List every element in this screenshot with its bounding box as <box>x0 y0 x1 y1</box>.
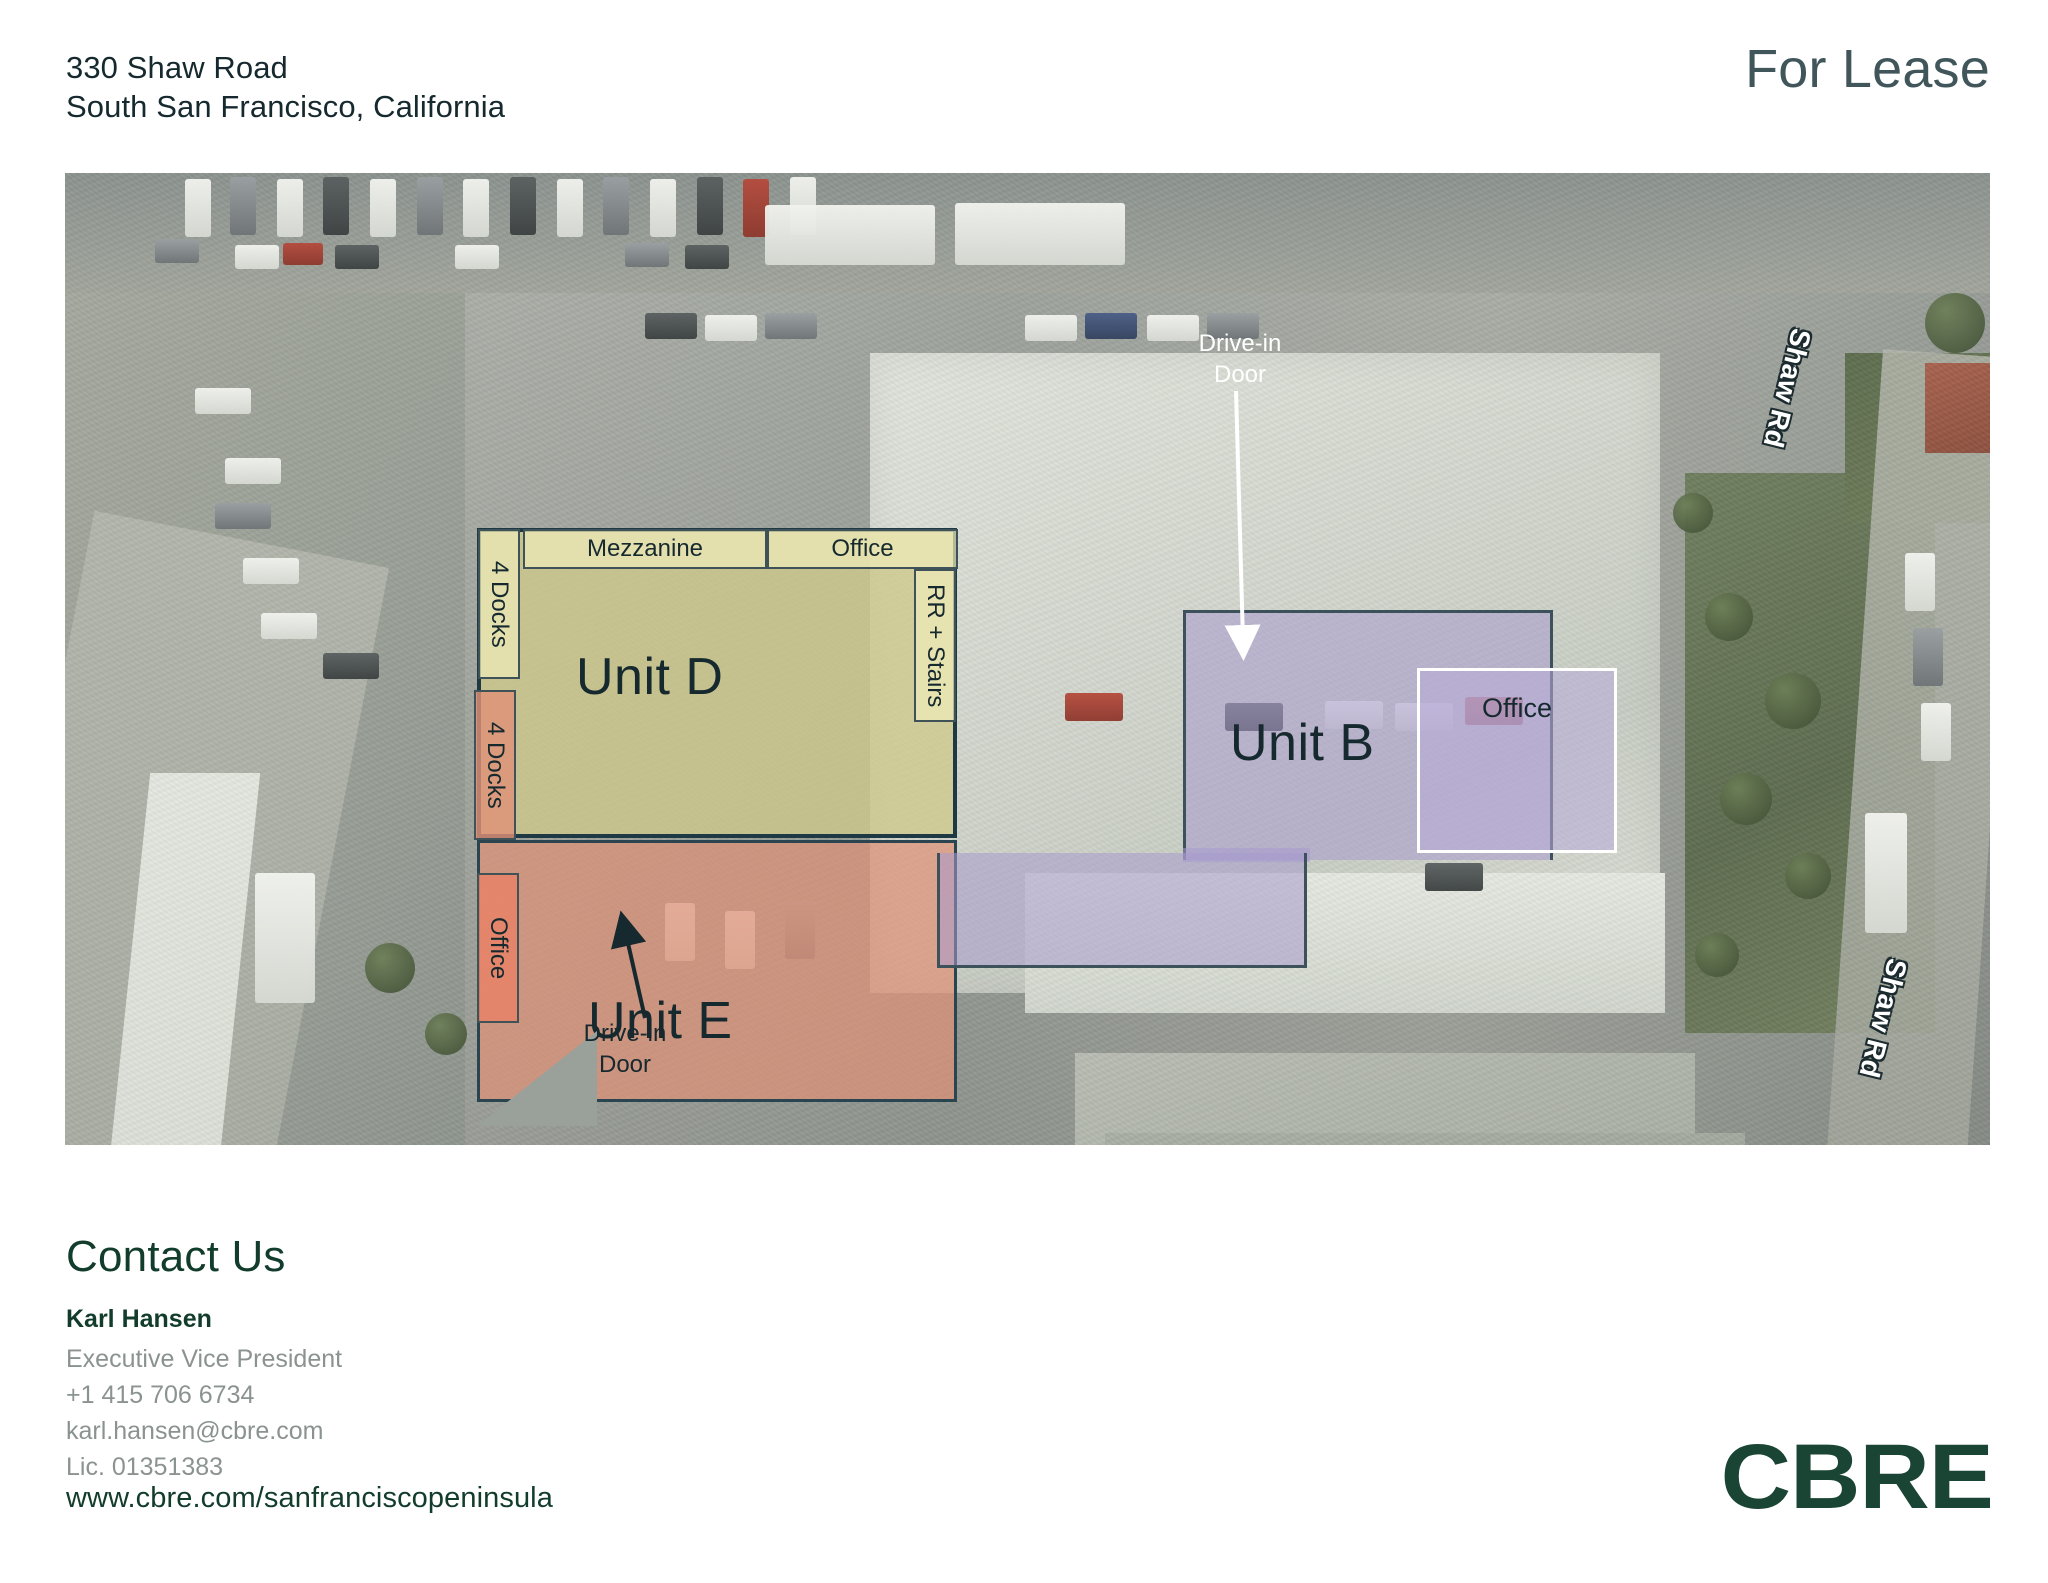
car <box>283 243 323 265</box>
car <box>1921 703 1951 761</box>
car <box>650 179 676 237</box>
callout-line-1: Drive-in <box>1150 328 1330 359</box>
car <box>1025 315 1077 341</box>
car <box>195 388 251 414</box>
car <box>603 177 629 235</box>
unit-b-polygon-lower[interactable] <box>937 853 1307 968</box>
callout-arrow-bottom <box>555 918 695 1028</box>
unit-d-docks-label: 4 Docks <box>478 529 520 679</box>
unit-b-office-box[interactable]: Office <box>1417 668 1617 853</box>
tree <box>1785 853 1831 899</box>
car <box>277 179 303 237</box>
car <box>1065 693 1123 721</box>
tree <box>1673 493 1713 533</box>
car <box>645 313 697 339</box>
car <box>1085 313 1137 339</box>
address-line-1: 330 Shaw Road <box>66 48 505 87</box>
car <box>370 179 396 237</box>
car <box>230 177 256 235</box>
car <box>510 177 536 235</box>
tree <box>425 1013 467 1055</box>
car <box>261 613 317 639</box>
car <box>185 179 211 237</box>
contact-license: Lic. 01351383 <box>66 1449 342 1485</box>
unit-b-office-label: Office <box>1482 693 1552 724</box>
property-address: 330 Shaw Road South San Francisco, Calif… <box>66 48 505 126</box>
tree <box>1705 593 1753 641</box>
car <box>765 313 817 339</box>
car <box>225 458 281 484</box>
page-header: 330 Shaw Road South San Francisco, Calif… <box>0 0 2048 173</box>
address-line-2: South San Francisco, California <box>66 87 505 126</box>
callout-line-2: Door <box>535 1049 715 1080</box>
car <box>335 245 379 269</box>
aerial-photo <box>65 173 1990 1145</box>
tree <box>1765 673 1821 729</box>
aerial-site-plan: 4 Docks Mezzanine Office RR + Stairs Uni… <box>65 173 1990 1145</box>
car <box>235 245 279 269</box>
truck-trailer <box>765 205 935 265</box>
page-footer: Contact Us Karl Hansen Executive Vice Pr… <box>0 1145 2048 1583</box>
car <box>417 177 443 235</box>
car <box>243 558 299 584</box>
car <box>155 239 199 263</box>
tree <box>1695 933 1739 977</box>
contact-name: Karl Hansen <box>66 1305 212 1334</box>
unit-e-office-label: Office <box>477 873 519 1023</box>
contact-heading: Contact Us <box>66 1232 286 1282</box>
truck-trailer <box>1865 813 1907 933</box>
car <box>455 245 499 269</box>
car <box>705 315 757 341</box>
car <box>215 503 271 529</box>
unit-e-docks-label: 4 Docks <box>474 690 516 840</box>
car <box>557 179 583 237</box>
tree <box>1720 773 1772 825</box>
unit-b-name: Unit B <box>1230 713 1375 773</box>
unit-d-polygon[interactable]: 4 Docks Mezzanine Office RR + Stairs Uni… <box>477 528 957 838</box>
contact-email[interactable]: karl.hansen@cbre.com <box>66 1413 342 1449</box>
car <box>323 177 349 235</box>
tree <box>365 943 415 993</box>
truck-trailer <box>255 873 315 1003</box>
callout-arrow-top <box>1205 391 1295 656</box>
callout-line-2: Door <box>1150 359 1330 390</box>
car <box>323 653 379 679</box>
website-link[interactable]: www.cbre.com/sanfranciscopeninsula <box>66 1482 553 1515</box>
unit-d-rr-stairs-label: RR + Stairs <box>914 569 956 722</box>
callout-drive-in-door-top: Drive-in Door <box>1150 328 1330 390</box>
car <box>1425 863 1483 891</box>
car <box>625 243 669 267</box>
tree <box>1925 293 1985 353</box>
unit-d-name: Unit D <box>576 647 723 707</box>
car <box>697 177 723 235</box>
unit-d-mezzanine-label: Mezzanine <box>523 529 767 569</box>
listing-status: For Lease <box>1745 38 1990 100</box>
car <box>1905 553 1935 611</box>
contact-details: Executive Vice President +1 415 706 6734… <box>66 1341 342 1485</box>
car <box>1913 628 1943 686</box>
car <box>463 179 489 237</box>
unit-d-office-label: Office <box>767 529 958 569</box>
contact-phone[interactable]: +1 415 706 6734 <box>66 1377 342 1413</box>
cbre-logo: CBRE <box>1721 1425 1993 1530</box>
car <box>685 245 729 269</box>
truck-trailer <box>955 203 1125 265</box>
contact-title: Executive Vice President <box>66 1341 342 1377</box>
